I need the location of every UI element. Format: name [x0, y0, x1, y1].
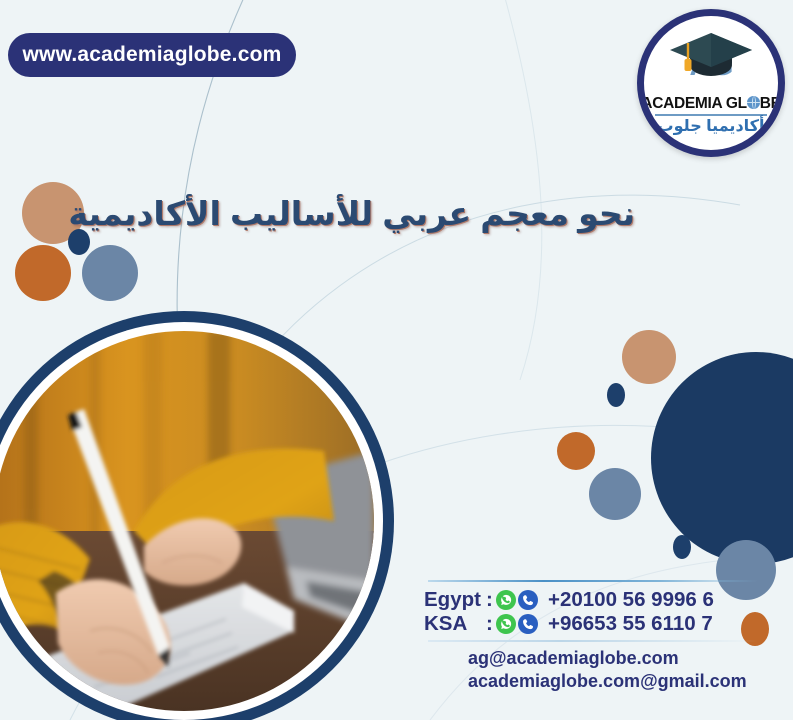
- dot-navy-tiny-lower: [673, 535, 691, 559]
- hero-photo-illustration: [0, 331, 374, 711]
- contact-divider-top: [428, 580, 758, 582]
- logo-wordmark-part1: ACADEMIA GL: [641, 95, 746, 112]
- dot-navy-small-right: [607, 383, 625, 407]
- brand-logo-badge[interactable]: AG ACADEMIA GLBE أكاديميا جلوب: [637, 9, 785, 157]
- logo-wordmark: ACADEMIA GLBE: [641, 95, 780, 113]
- globe-icon: [747, 96, 760, 109]
- contact-number-ksa[interactable]: +96653 55 6110 7: [548, 612, 713, 636]
- email-secondary[interactable]: academiaglobe.com@gmail.com: [468, 670, 784, 693]
- contact-label-ksa: KSA: [424, 612, 486, 636]
- phone-call-icon[interactable]: [518, 614, 538, 634]
- contact-row-egypt[interactable]: Egypt : +20100 56 9996 6: [424, 588, 784, 612]
- dot-big-navy: [651, 352, 793, 564]
- email-list: ag@academiaglobe.com academiaglobe.com@g…: [424, 647, 784, 693]
- contact-row-ksa[interactable]: KSA : +96653 55 6110 7: [424, 612, 784, 636]
- photo-white-border: [0, 322, 383, 720]
- dot-orange-right: [557, 432, 595, 470]
- email-primary[interactable]: ag@academiaglobe.com: [468, 647, 784, 670]
- phone-call-icon[interactable]: [518, 590, 538, 610]
- photo-ring: [0, 311, 394, 720]
- hero-photo: [0, 331, 374, 711]
- contact-number-egypt[interactable]: +20100 56 9996 6: [548, 588, 714, 612]
- poster-canvas: www.academiaglobe.com AG ACADEMIA GLBE أ…: [0, 0, 793, 720]
- website-url-text: www.academiaglobe.com: [23, 43, 282, 67]
- page-title: نحو معجم عربي للأساليب الأكاديمية: [68, 194, 635, 233]
- contact-colon-egypt: :: [486, 588, 496, 612]
- logo-wordmark-arabic: أكاديميا جلوب: [658, 116, 765, 136]
- whatsapp-icon[interactable]: [496, 590, 516, 610]
- contact-block: Egypt : +20100 56 9996 6 KSA :: [424, 580, 784, 693]
- dot-steel-right: [589, 468, 641, 520]
- contact-label-egypt: Egypt: [424, 588, 486, 612]
- dot-tan-right: [622, 330, 676, 384]
- dot-orange-left: [15, 245, 71, 301]
- contact-divider-bottom: [428, 640, 758, 642]
- logo-mark: AG: [668, 25, 754, 97]
- website-url-pill[interactable]: www.academiaglobe.com: [8, 33, 296, 77]
- logo-wordmark-part2: BE: [760, 95, 781, 112]
- contact-colon-ksa: :: [486, 612, 496, 636]
- dot-steel-left: [82, 245, 138, 301]
- whatsapp-icon[interactable]: [496, 614, 516, 634]
- graduation-cap-icon: [668, 25, 754, 77]
